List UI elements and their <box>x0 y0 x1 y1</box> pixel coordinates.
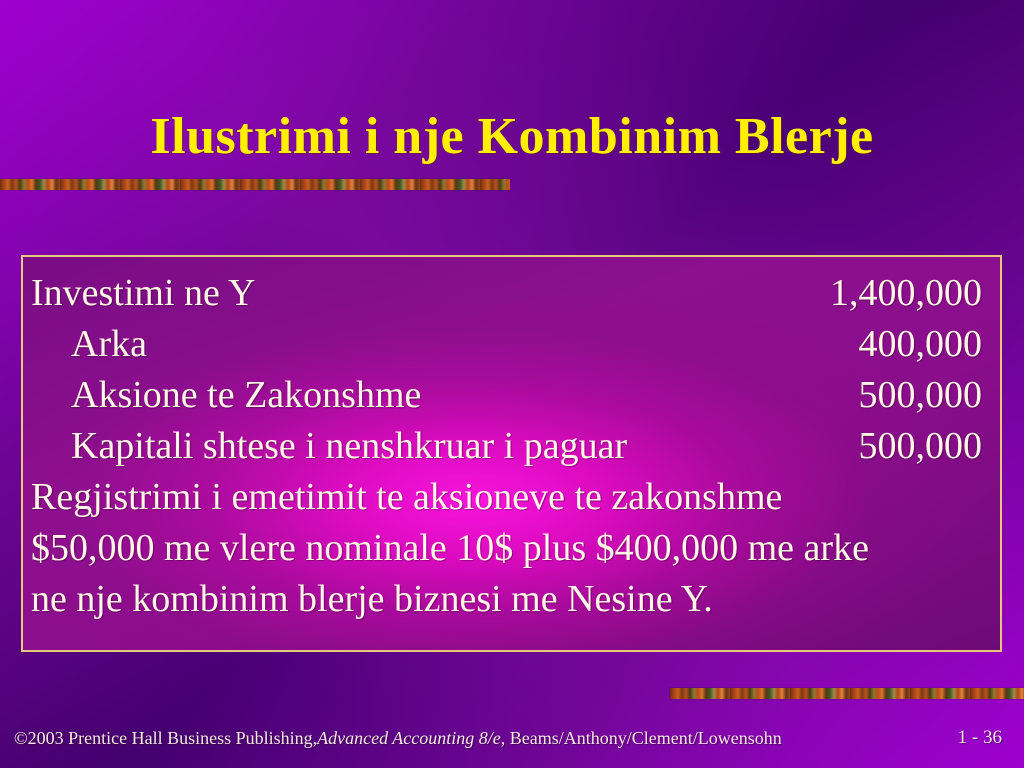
journal-row: Kapitali shtese i nenshkruar i paguar 50… <box>31 421 982 472</box>
slide-page-number: 1 - 36 <box>958 727 1002 749</box>
footer-book-title: Advanced Accounting 8/e <box>317 728 501 748</box>
presentation-slide: Ilustrimi i nje Kombinim Blerje Investim… <box>0 0 1024 768</box>
journal-entry-box: Investimi ne Y 1,400,000 Arka 400,000 Ak… <box>21 255 1002 652</box>
footer-copyright: ©2003 Prentice Hall Business Publishing, <box>14 728 317 748</box>
journal-row-label: Investimi ne Y <box>31 268 255 319</box>
journal-row-amount: 500,000 <box>859 421 983 472</box>
journal-narrative-line: ne nje kombinim blerje biznesi me Nesine… <box>31 574 982 625</box>
journal-entry-lines: Investimi ne Y 1,400,000 Arka 400,000 Ak… <box>23 257 1000 625</box>
slide-title: Ilustrimi i nje Kombinim Blerje <box>60 107 964 167</box>
journal-row: Investimi ne Y 1,400,000 <box>31 268 982 319</box>
journal-row: Arka 400,000 <box>31 319 982 370</box>
journal-row: Aksione te Zakonshme 500,000 <box>31 370 982 421</box>
decorative-bar-top <box>0 179 510 190</box>
footer-authors: , Beams/Anthony/Clement/Lowensohn <box>501 728 782 748</box>
journal-row-label: Aksione te Zakonshme <box>31 370 421 421</box>
journal-row-amount: 500,000 <box>859 370 983 421</box>
slide-footer: ©2003 Prentice Hall Business Publishing,… <box>14 727 782 749</box>
journal-row-label: Arka <box>31 319 147 370</box>
journal-narrative-line: $50,000 me vlere nominale 10$ plus $400,… <box>31 523 982 574</box>
decorative-bar-bottom <box>670 688 1024 699</box>
journal-narrative-line: Regjistrimi i emetimit te aksioneve te z… <box>31 472 982 523</box>
journal-row-label: Kapitali shtese i nenshkruar i paguar <box>31 421 627 472</box>
journal-row-amount: 1,400,000 <box>830 268 982 319</box>
journal-row-amount: 400,000 <box>859 319 983 370</box>
